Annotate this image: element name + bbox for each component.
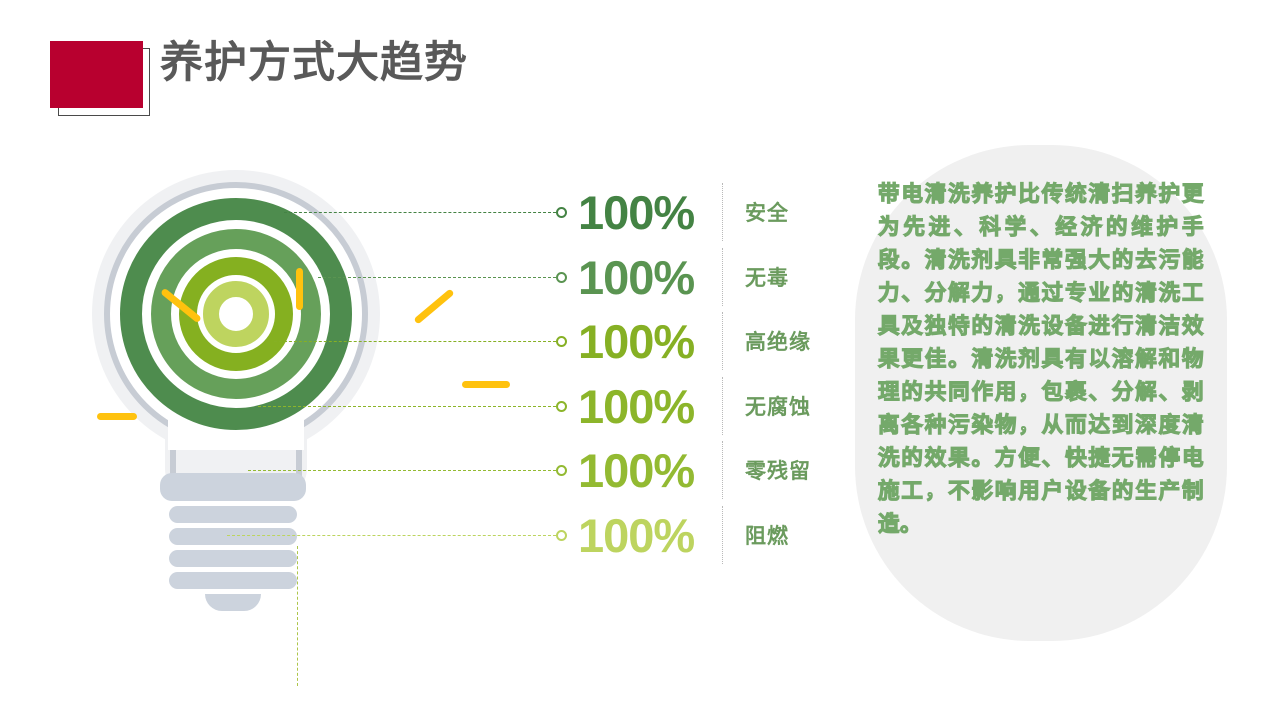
stat-label: 安全 <box>745 197 789 227</box>
connector-marker-3 <box>556 336 567 347</box>
bulb-base-bar <box>169 506 297 523</box>
connector-line-6 <box>227 535 556 536</box>
stat-row: 100% 安全 <box>578 185 789 239</box>
connector-line-4 <box>258 406 556 407</box>
stat-label: 阻燃 <box>745 520 789 550</box>
stat-row: 100% 无毒 <box>578 250 789 304</box>
connector-line-2 <box>318 277 556 278</box>
stat-value: 100% <box>578 447 710 494</box>
connector-marker-4 <box>556 401 567 412</box>
stat-label: 无毒 <box>745 262 789 292</box>
connector-marker-5 <box>556 465 567 476</box>
bulb-base-bar <box>169 572 297 589</box>
connector-marker-2 <box>556 272 567 283</box>
stat-value: 100% <box>578 512 710 559</box>
light-ray-left-icon <box>97 413 137 420</box>
stat-value: 100% <box>578 318 710 365</box>
bulb-base-cap <box>160 473 306 501</box>
connector-marker-6 <box>556 530 567 541</box>
stat-divider <box>722 377 723 435</box>
light-ray-top-icon <box>296 268 303 310</box>
stat-value: 100% <box>578 189 710 236</box>
title-accent-square <box>50 41 143 108</box>
stat-label: 高绝缘 <box>745 326 811 356</box>
connector-line-1 <box>284 212 556 213</box>
bulb-base-bar <box>169 528 297 545</box>
info-paragraph: 带电清洗养护比传统清扫养护更为先进、科学、经济的维护手段。清洗剂具非常强大的去污… <box>878 178 1204 541</box>
bulb-base-bar <box>169 550 297 567</box>
stat-value: 100% <box>578 254 710 301</box>
bulb-base-tip <box>205 594 261 611</box>
stat-value: 100% <box>578 383 710 430</box>
stat-row: 100% 阻燃 <box>578 508 789 562</box>
light-ray-right-icon <box>462 381 510 388</box>
stat-row: 100% 无腐蚀 <box>578 379 811 433</box>
stat-divider <box>722 506 723 564</box>
stat-row: 100% 零残留 <box>578 443 811 497</box>
stat-divider <box>722 183 723 241</box>
stat-row: 100% 高绝缘 <box>578 314 811 368</box>
bulb-screw-base <box>160 473 306 611</box>
connector-line-5 <box>248 470 556 471</box>
connector-vertical-drop <box>297 546 298 686</box>
stat-label: 零残留 <box>745 455 811 485</box>
stat-divider <box>722 312 723 370</box>
connector-marker-1 <box>556 207 567 218</box>
stat-divider <box>722 248 723 306</box>
connector-line-3 <box>274 341 556 342</box>
light-ray-upper-right-icon <box>413 288 454 324</box>
slide-canvas: 养护方式大趋势 <box>0 0 1283 721</box>
stat-divider <box>722 441 723 499</box>
page-title: 养护方式大趋势 <box>160 42 468 85</box>
lightbulb-illustration <box>70 150 400 590</box>
stat-label: 无腐蚀 <box>745 391 811 421</box>
ring-inner <box>203 281 269 347</box>
